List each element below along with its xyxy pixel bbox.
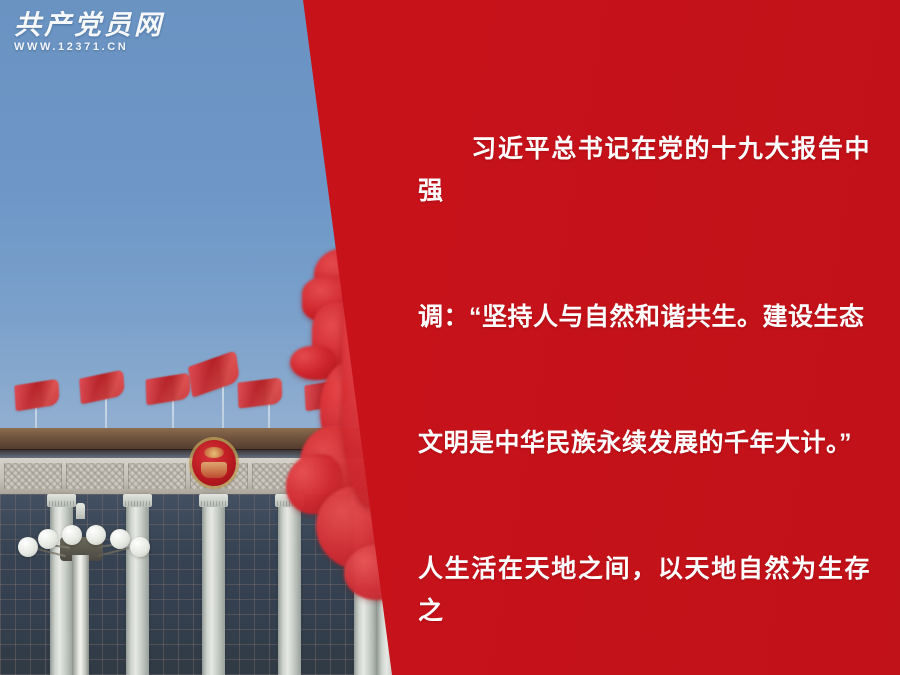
flag-icon	[79, 370, 125, 405]
lamp-globe-icon	[110, 529, 130, 549]
lamp-globe-icon	[38, 529, 58, 549]
flag-icon	[14, 379, 59, 412]
lamp-globe-icon	[86, 525, 106, 545]
flag-icon	[188, 350, 240, 398]
lamp-globe-icon	[130, 537, 150, 557]
flag-icon	[146, 373, 191, 406]
street-lamp	[10, 495, 160, 675]
flag-icon	[238, 377, 283, 408]
quote-line: 调：“坚持人与自然和谐共生。建设生态	[418, 296, 870, 338]
watermark-site-name: 共产党员网	[14, 10, 189, 40]
lamp-globe-icon	[62, 525, 82, 545]
quote-line: 文明是中华民族永续发展的千年大计。”	[418, 422, 870, 464]
quote-line: 习近平总书记在党的十九大报告中强	[418, 128, 870, 212]
lamp-globe-icon	[18, 537, 38, 557]
site-watermark: 共产党员网 WWW.12371.CN	[14, 10, 189, 62]
national-emblem-icon	[192, 440, 236, 486]
quote-text: 习近平总书记在党的十九大报告中强 调：“坚持人与自然和谐共生。建设生态 文明是中…	[418, 44, 870, 675]
watermark-site-url: WWW.12371.CN	[14, 41, 189, 53]
quote-line: 人生活在天地之间，以天地自然为生存之	[418, 548, 870, 632]
poster-canvas: 习近平总书记在党的十九大报告中强 调：“坚持人与自然和谐共生。建设生态 文明是中…	[0, 0, 900, 675]
